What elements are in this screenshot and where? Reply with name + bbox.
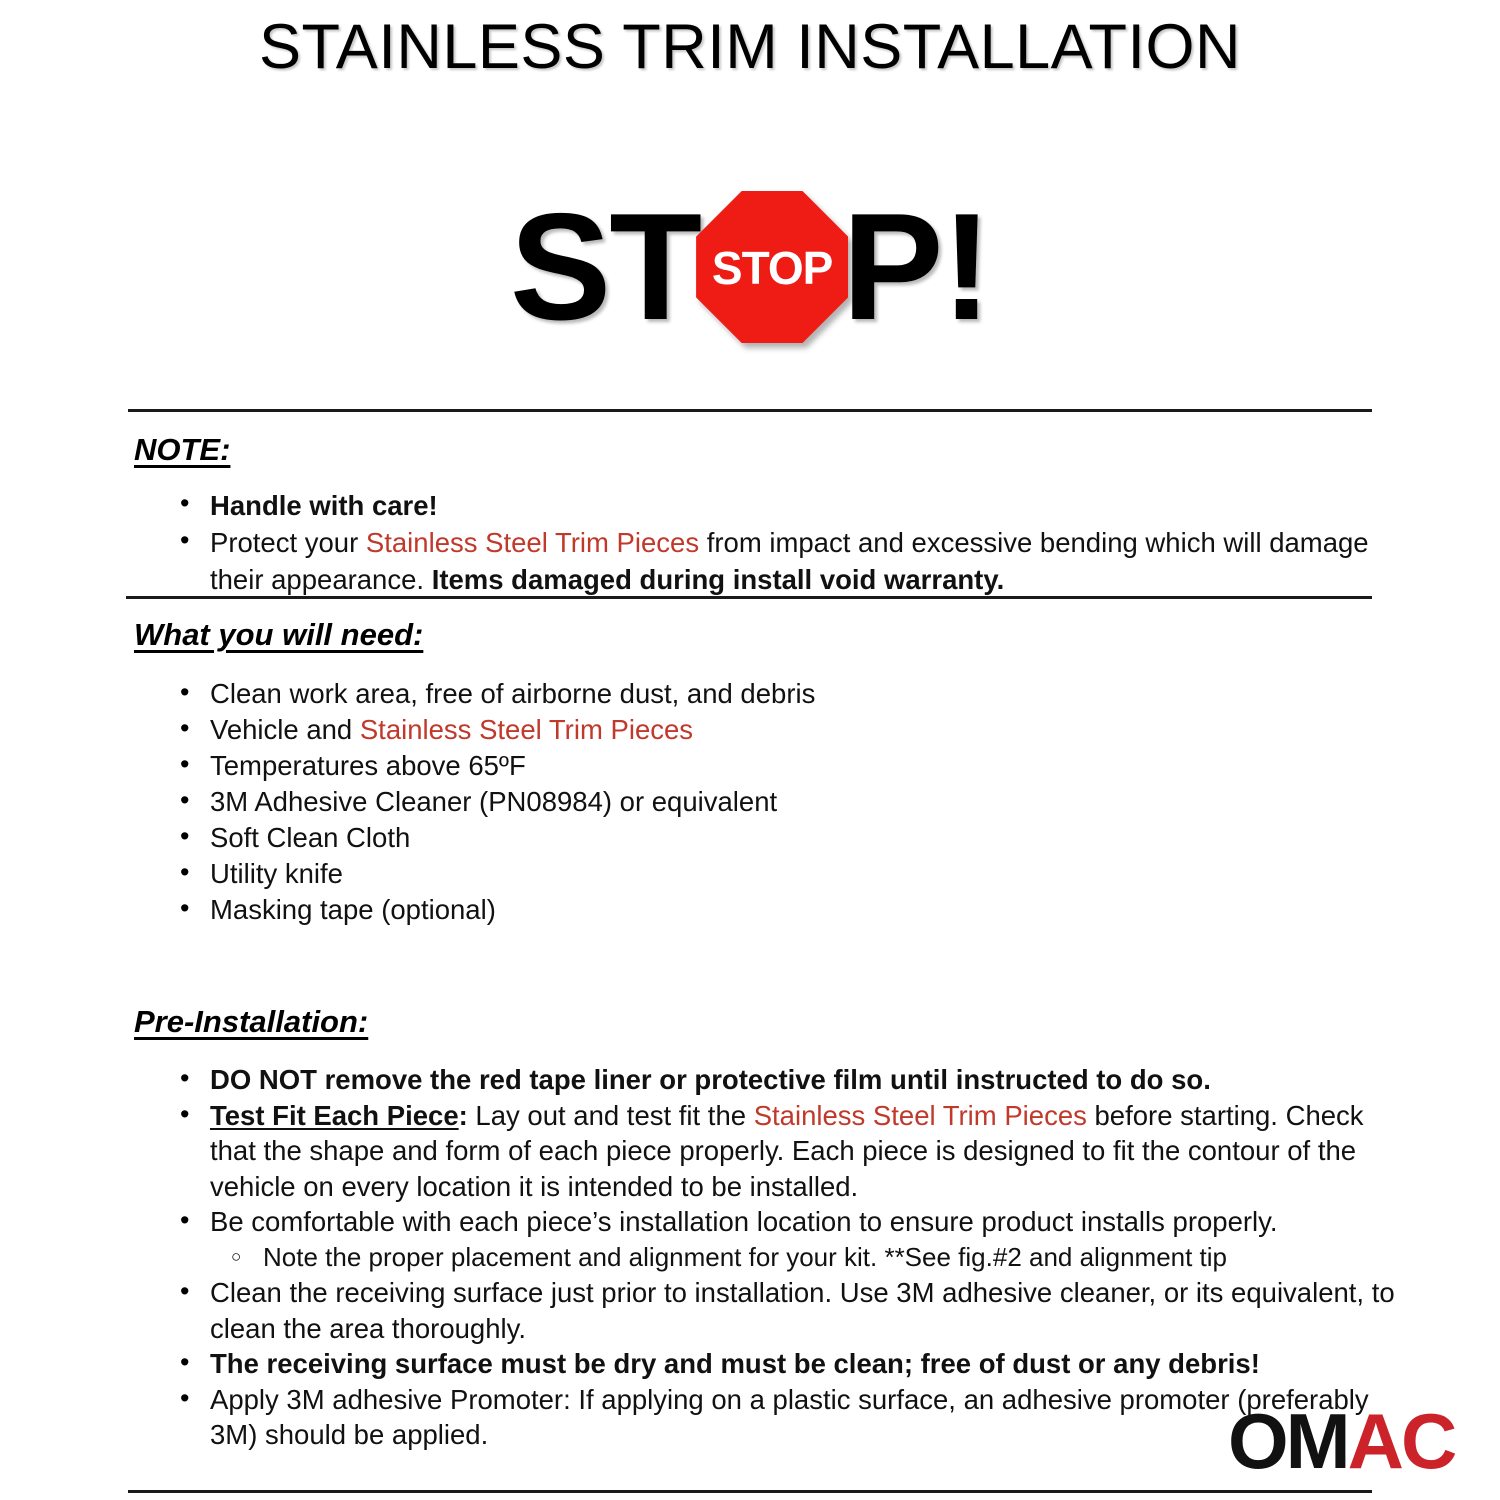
omac-logo-dark: OM (1228, 1397, 1348, 1485)
note-item-1-bold-tail: Items damaged during install void warran… (432, 564, 1005, 595)
installation-instruction-page: STAINLESS TRIM INSTALLATION ST STOP P! N… (0, 0, 1500, 1500)
list-item: Apply 3M adhesive Promoter: If applying … (153, 1382, 1403, 1453)
pre-item-0-text: DO NOT remove the red tape liner or prot… (210, 1064, 1211, 1095)
pre-item-4-text: Clean the receiving surface just prior t… (210, 1277, 1395, 1344)
what-you-need-bullet-list: Clean work area, free of airborne dust, … (153, 676, 1393, 928)
list-item: Clean the receiving surface just prior t… (153, 1275, 1403, 1346)
list-item: Utility knife (153, 856, 1393, 892)
pre-item-1-colon: : (459, 1100, 468, 1131)
need-item-4-text: Soft Clean Cloth (210, 822, 410, 853)
stop-logo-right-letters: P! (842, 191, 990, 343)
list-item: Protect your Stainless Steel Trim Pieces… (153, 524, 1393, 598)
pre-item-1-lead: Test Fit Each Piece (210, 1100, 459, 1131)
need-item-1-highlight: Stainless Steel Trim Pieces (360, 714, 693, 745)
page-title: STAINLESS TRIM INSTALLATION (0, 14, 1500, 80)
list-item: Soft Clean Cloth (153, 820, 1393, 856)
section-heading-what-you-need: What you will need: (134, 617, 423, 653)
list-item: 3M Adhesive Cleaner (PN08984) or equival… (153, 784, 1393, 820)
need-item-0-text: Clean work area, free of airborne dust, … (210, 678, 815, 709)
pre-item-6-text: Apply 3M adhesive Promoter: If applying … (210, 1384, 1369, 1451)
list-item: Test Fit Each Piece: Lay out and test fi… (153, 1098, 1403, 1205)
omac-logo-accent: AC (1348, 1397, 1455, 1485)
pre-installation-bullet-list: DO NOT remove the red tape liner or prot… (153, 1062, 1403, 1453)
divider-top (128, 409, 1372, 412)
stop-sign-octagon: STOP (696, 191, 848, 343)
list-item: DO NOT remove the red tape liner or prot… (153, 1062, 1403, 1098)
need-item-2-text: Temperatures above 65ºF (210, 750, 526, 781)
stop-logo: ST STOP P! (0, 182, 1500, 352)
note-bullet-list: Handle with care! Protect your Stainless… (153, 487, 1393, 598)
note-item-1-highlight: Stainless Steel Trim Pieces (366, 527, 699, 558)
divider-bottom (128, 1490, 1372, 1493)
list-item: Temperatures above 65ºF (153, 748, 1393, 784)
list-item: Vehicle and Stainless Steel Trim Pieces (153, 712, 1393, 748)
pre-item-1-part1: Lay out and test fit the (468, 1100, 754, 1131)
list-item-sub: Note the proper placement and alignment … (153, 1240, 1403, 1276)
list-item: Clean work area, free of airborne dust, … (153, 676, 1393, 712)
stop-sign-label: STOP (712, 245, 832, 291)
need-item-6-text: Masking tape (optional) (210, 894, 496, 925)
omac-logo: OMAC (1228, 1402, 1454, 1480)
list-item: Masking tape (optional) (153, 892, 1393, 928)
section-heading-pre-installation: Pre-Installation: (134, 1004, 368, 1040)
pre-item-1-highlight: Stainless Steel Trim Pieces (754, 1100, 1087, 1131)
note-item-1-part1: Protect your (210, 527, 366, 558)
note-item-0-text: Handle with care! (210, 490, 438, 521)
need-item-1-part1: Vehicle and (210, 714, 360, 745)
section-heading-note: NOTE: (134, 432, 230, 468)
list-item: The receiving surface must be dry and mu… (153, 1346, 1403, 1382)
need-item-3-text: 3M Adhesive Cleaner (PN08984) or equival… (210, 786, 777, 817)
pre-item-3-text: Note the proper placement and alignment … (263, 1242, 1227, 1272)
pre-item-2-text: Be comfortable with each piece’s install… (210, 1206, 1277, 1237)
stop-sign-icon: STOP (696, 191, 848, 343)
need-item-5-text: Utility knife (210, 858, 343, 889)
list-item: Be comfortable with each piece’s install… (153, 1204, 1403, 1240)
list-item: Handle with care! (153, 487, 1393, 524)
pre-item-5-text: The receiving surface must be dry and mu… (210, 1348, 1260, 1379)
stop-logo-left-letters: ST (510, 191, 700, 343)
